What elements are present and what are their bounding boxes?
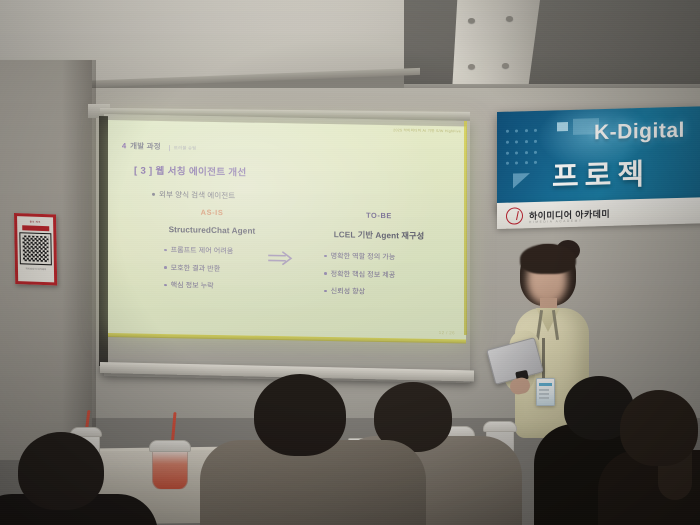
ceiling-beam	[452, 0, 540, 92]
list-item-label: 핵심 정보 누락	[171, 280, 214, 291]
slide-edge-right	[464, 121, 467, 335]
bullet-dot-icon	[152, 193, 155, 196]
presenter-hair-front	[520, 244, 576, 274]
beam-bolt-icon	[468, 18, 475, 23]
audience-head	[254, 374, 346, 456]
bullet-dot-icon	[164, 284, 167, 287]
bullet-dot-icon	[324, 272, 327, 275]
ceiling-panel-right	[404, 0, 700, 90]
academy-romanized: HIMEDIA ACADEMY	[529, 219, 583, 224]
banner-subline: 프로젝	[552, 151, 650, 196]
wall-qr-poster: 출석 체크 하이미디어 아카데미	[14, 213, 57, 286]
iced-drink-cup	[152, 448, 188, 490]
qr-code-icon	[20, 233, 51, 264]
slide-kicker-text: 개발 과정	[130, 140, 161, 152]
slide-column-as-is: AS-IS StructuredChat Agent 프롬프트 제어 어려움 모…	[138, 207, 286, 300]
banner-dot-pattern-icon	[506, 129, 540, 170]
double-arrow-right-icon	[268, 251, 296, 266]
list-item-label: 정확한 핵심 정보 제공	[331, 269, 396, 280]
bullet-dot-icon	[164, 249, 167, 252]
slide-page-number: 12 / 26	[439, 330, 455, 335]
qr-poster-caption: 출석 체크	[30, 220, 41, 224]
list-item-label: 명확한 역할 정의 가능	[331, 251, 396, 262]
kdigital-banner: K-Digital 프로젝	[497, 106, 700, 212]
slide-kicker: 4 개발 과정 트러블 슈팅	[122, 140, 196, 152]
column-list-as-is: 프롬프트 제어 어려움 모호한 결과 반환 핵심 정보 누락	[138, 245, 286, 293]
qr-poster-footer: 하이미디어 아카데미	[26, 266, 47, 271]
column-list-to-be: 명확한 역할 정의 가능 정확한 핵심 정보 제공 신뢰성 향상	[300, 251, 458, 299]
list-item: 명확한 역할 정의 가능	[324, 251, 458, 263]
qr-poster-banner	[22, 225, 49, 231]
column-heading-as-is: StructuredChat Agent	[138, 225, 286, 237]
bullet-dot-icon	[324, 290, 327, 293]
slide-title: [ 3 ] 웹 서칭 에이전트 개선	[134, 162, 247, 178]
beam-bolt-icon	[502, 63, 509, 68]
list-item: 정확한 핵심 정보 제공	[324, 268, 458, 280]
slide-kicker-sub: 트러블 슈팅	[169, 145, 197, 152]
audience-member	[214, 374, 400, 525]
screen-left-shadow	[99, 116, 108, 366]
bullet-dot-icon	[324, 255, 327, 258]
audience-member	[0, 432, 140, 525]
column-tag-to-be: TO-BE	[300, 210, 458, 222]
banner-triangle-icon	[513, 173, 530, 188]
slide-kicker-number: 4	[122, 141, 126, 150]
banner-headline: K-Digital	[594, 119, 685, 146]
list-item-label: 신뢰성 향상	[331, 286, 366, 297]
audience-member	[612, 390, 700, 525]
list-item: 핵심 정보 누락	[164, 280, 286, 292]
column-heading-to-be: LCEL 기반 Agent 재구성	[300, 228, 458, 243]
list-item-label: 프롬프트 제어 어려움	[171, 245, 234, 256]
bullet-dot-icon	[164, 266, 167, 269]
audience-head	[620, 390, 698, 466]
slide-main-bullet-label: 외부 양식 검색 에이전트	[159, 189, 235, 201]
projected-slide: 2025 하이미디어 AI 기반 S/W HighFive 4 개발 과정 트러…	[108, 120, 466, 343]
himedia-circle-logo-icon	[506, 207, 523, 224]
slide-watermark: 2025 하이미디어 AI 기반 S/W HighFive	[393, 128, 461, 134]
audience-head	[18, 432, 104, 510]
photo-scene: 출석 체크 하이미디어 아카데미 2025 하이미디어 AI 기반 S/W Hi…	[0, 0, 700, 525]
list-item: 신뢰성 향상	[324, 286, 458, 298]
list-item-label: 모호한 결과 반환	[171, 263, 221, 274]
presenter-badge-strap	[542, 338, 545, 380]
left-wall-shadow	[62, 60, 96, 460]
slide-main-bullet: 외부 양식 검색 에이전트	[152, 189, 235, 202]
banner-square-icon	[557, 122, 568, 131]
cup-lid	[149, 440, 191, 452]
column-tag-as-is: AS-IS	[138, 207, 286, 219]
beam-bolt-icon	[468, 64, 475, 69]
slide-column-to-be: TO-BE LCEL 기반 Agent 재구성 명확한 역할 정의 가능 정확한…	[300, 210, 458, 306]
beam-bolt-icon	[506, 16, 513, 21]
